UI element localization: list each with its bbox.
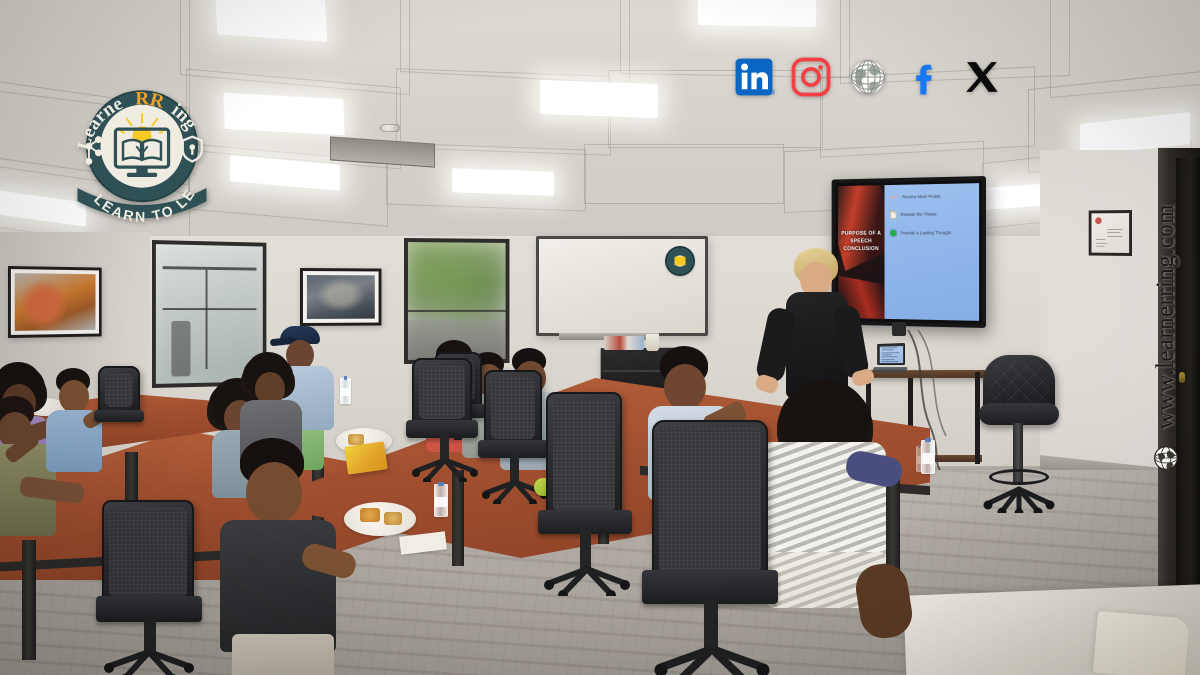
slide-bullet-label: Restate the Thesis (900, 212, 936, 218)
photo-scene: PURPOSE OF A SPEECH CONCLUSION Review Ma… (0, 0, 1200, 675)
drafting-stool[interactable] (975, 355, 1061, 520)
cabinet-cup (646, 334, 659, 351)
ceiling-light-panel (452, 168, 554, 196)
student-shorts (232, 634, 334, 675)
whiteboard (536, 236, 708, 336)
slide-bullet-label: Review Main Points (902, 194, 940, 200)
linkedin-icon[interactable]: ® (733, 56, 775, 98)
website-url-text: www.learnerring.com (1152, 204, 1180, 429)
social-links-bar: ® (733, 56, 1003, 98)
ceiling-light-panel (223, 93, 344, 135)
snack-box (344, 441, 388, 474)
green-dot-icon (890, 230, 897, 237)
globe-icon (1153, 445, 1179, 471)
table-leg (22, 540, 36, 660)
snack-plate (344, 502, 416, 536)
learnerring-logo-sticker (665, 246, 695, 276)
framed-aircraft-photo-2 (300, 268, 381, 326)
slide-body-panel: Review Main Points Restate the Thesis Pr… (885, 183, 980, 321)
ceiling-light-panel (540, 80, 658, 118)
facebook-icon[interactable] (904, 56, 946, 98)
water-bottle[interactable] (916, 446, 922, 472)
cabinet-supplies (604, 336, 644, 350)
tv-screen: PURPOSE OF A SPEECH CONCLUSION Review Ma… (838, 183, 979, 321)
table-leg (452, 470, 464, 566)
slide-bullet: Provide a Lasting Thought (890, 229, 974, 236)
learnerring-logo: Learne RR ing LEARN TO LEAD (66, 76, 218, 224)
instagram-icon[interactable] (790, 56, 832, 98)
water-bottle[interactable] (921, 440, 935, 474)
slide-bullet: Restate the Thesis (890, 210, 974, 219)
snack-food (384, 512, 402, 525)
slide-bullet-label: Provide a Lasting Thought (900, 230, 951, 236)
svg-text:®: ® (771, 90, 775, 97)
line-chart-icon (890, 194, 898, 201)
framed-certificate (1089, 210, 1132, 256)
ceiling-light-panel (698, 0, 816, 27)
slide-bullet: Review Main Points (890, 192, 974, 200)
x-twitter-icon[interactable] (961, 56, 1003, 98)
water-bottle[interactable] (340, 378, 351, 404)
certificate-seal (1095, 217, 1102, 224)
website-globe-icon[interactable] (847, 56, 889, 98)
water-bottle[interactable] (434, 484, 448, 517)
wall-mounted-television: PURPOSE OF A SPEECH CONCLUSION Review Ma… (832, 176, 986, 328)
smoke-detector (380, 124, 400, 132)
website-url-watermark: www.learnerring.com (1138, 0, 1194, 675)
stool-base (983, 483, 1055, 513)
slide-title: PURPOSE OF A SPEECH CONCLUSION (840, 229, 882, 253)
snack-food (360, 508, 380, 522)
document-icon (890, 211, 897, 219)
framed-aircraft-photo-1 (8, 266, 102, 338)
